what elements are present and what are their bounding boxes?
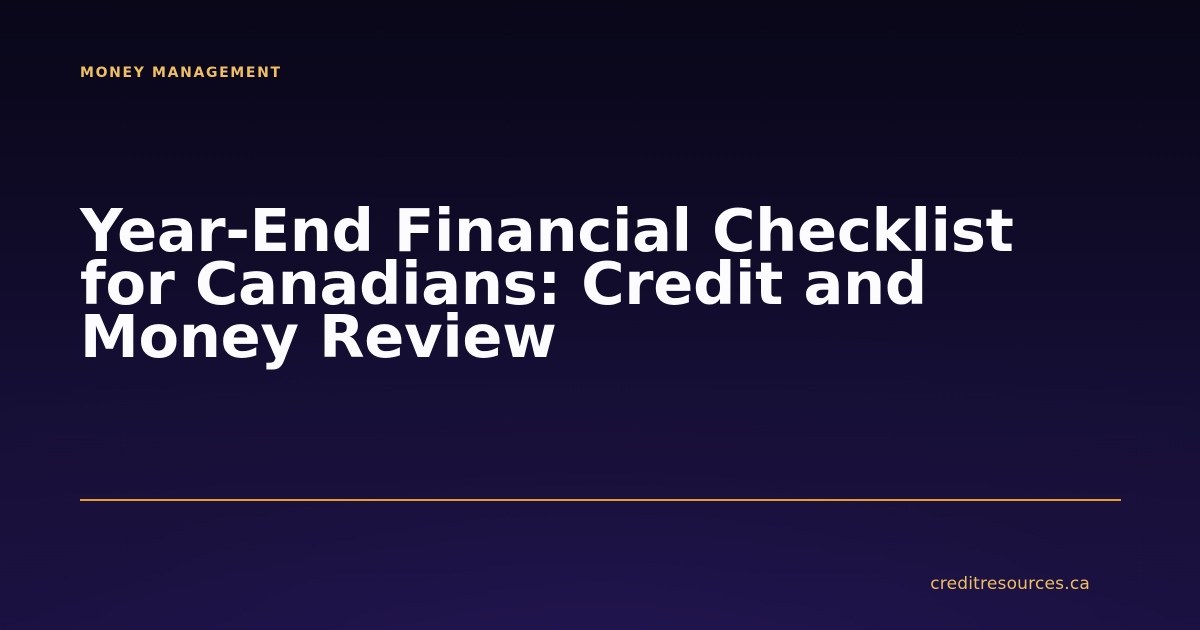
site-brand-label: creditresources.ca [930,572,1090,596]
category-kicker: MONEY MANAGEMENT [80,64,282,82]
card-content: MONEY MANAGEMENT Year-End Financial Chec… [0,0,1200,630]
horizontal-divider [80,499,1121,501]
page-title: Year-End Financial Checklist for Canadia… [80,204,1040,363]
social-share-card: MONEY MANAGEMENT Year-End Financial Chec… [0,0,1200,630]
